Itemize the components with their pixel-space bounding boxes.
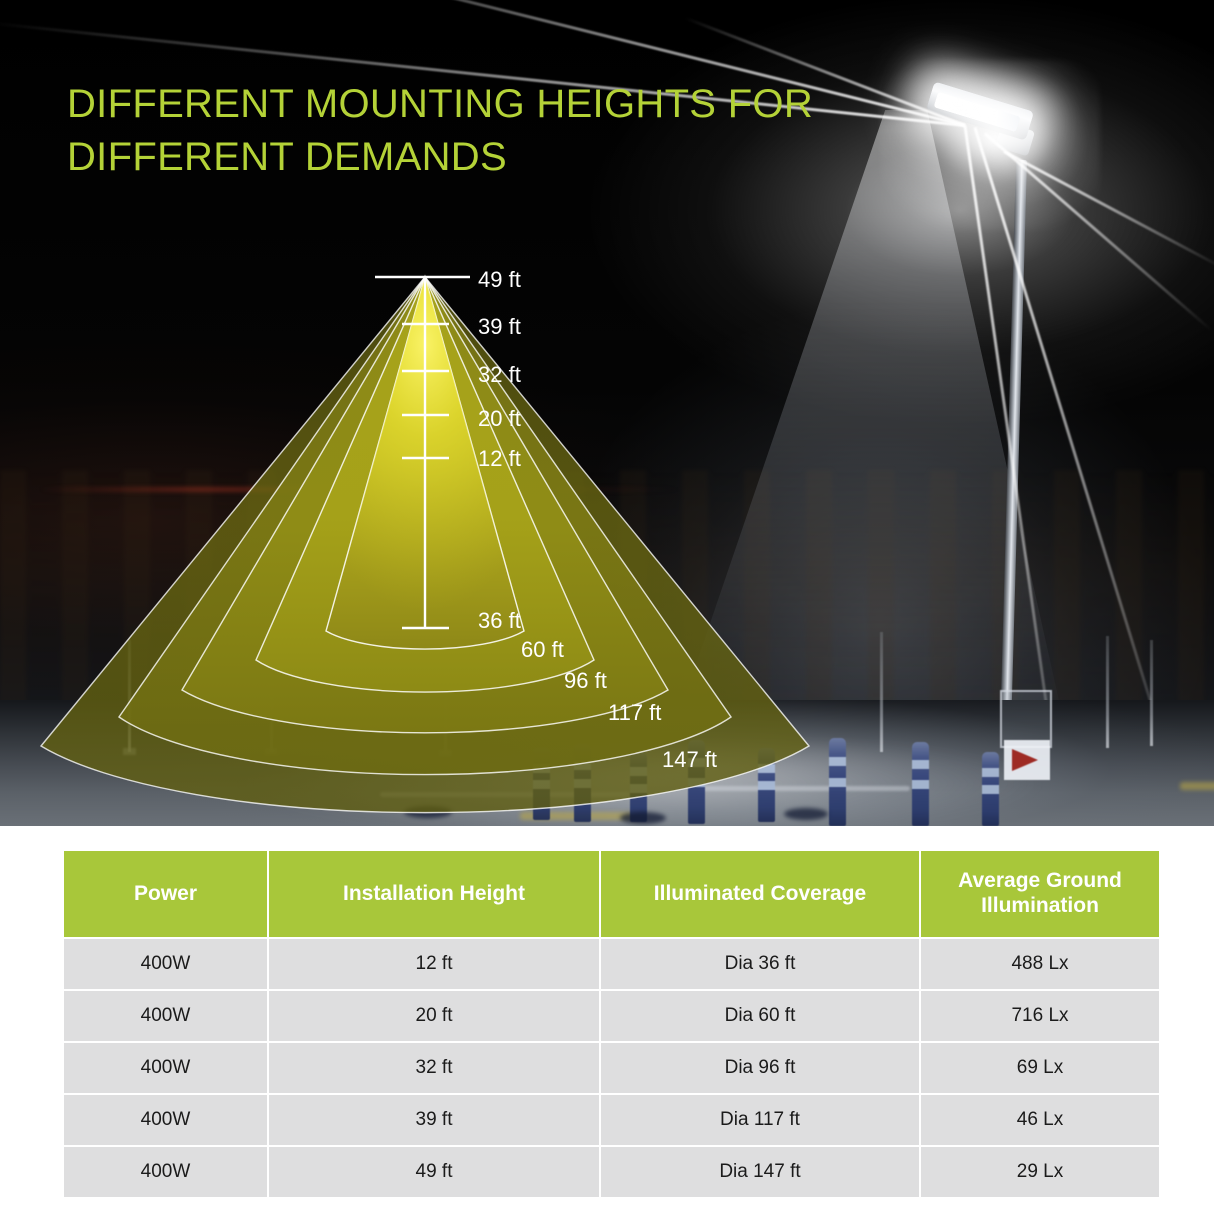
product-infographic-page: 49 ft 39 ft 32 ft 20 ft 12 ft 36 ft 60 f… bbox=[0, 0, 1214, 1214]
column-header-average-ground-illumination: Average Ground Illumination bbox=[921, 851, 1159, 937]
cell-height: 12 ft bbox=[269, 939, 599, 989]
cell-height: 20 ft bbox=[269, 991, 599, 1041]
diameter-label-96ft: 96 ft bbox=[564, 668, 607, 693]
cell-illumination: 716 Lx bbox=[921, 991, 1159, 1041]
diameter-label-36ft: 36 ft bbox=[478, 608, 521, 633]
spec-table-container: Power Installation Height Illuminated Co… bbox=[62, 849, 1153, 1199]
column-header-installation-height: Installation Height bbox=[269, 851, 599, 937]
height-label-12ft: 12 ft bbox=[478, 446, 521, 471]
table-row: 400W 32 ft Dia 96 ft 69 Lx bbox=[64, 1043, 1159, 1093]
diameter-label-60ft: 60 ft bbox=[521, 637, 564, 662]
spec-table-body: 400W 12 ft Dia 36 ft 488 Lx 400W 20 ft D… bbox=[64, 939, 1159, 1197]
table-row: 400W 12 ft Dia 36 ft 488 Lx bbox=[64, 939, 1159, 989]
cell-coverage: Dia 147 ft bbox=[601, 1147, 919, 1197]
table-row: 400W 39 ft Dia 117 ft 46 Lx bbox=[64, 1095, 1159, 1145]
height-label-49ft: 49 ft bbox=[478, 267, 521, 292]
spec-table-head: Power Installation Height Illuminated Co… bbox=[64, 851, 1159, 937]
cell-power: 400W bbox=[64, 1043, 267, 1093]
page-title: DIFFERENT MOUNTING HEIGHTS FOR DIFFERENT… bbox=[67, 78, 887, 184]
cell-coverage: Dia 96 ft bbox=[601, 1043, 919, 1093]
cell-illumination: 29 Lx bbox=[921, 1147, 1159, 1197]
cell-power: 400W bbox=[64, 1147, 267, 1197]
cell-height: 49 ft bbox=[269, 1147, 599, 1197]
cell-coverage: Dia 60 ft bbox=[601, 991, 919, 1041]
page-title-line-1: DIFFERENT MOUNTING HEIGHTS FOR bbox=[67, 78, 887, 131]
cell-power: 400W bbox=[64, 1095, 267, 1145]
cell-power: 400W bbox=[64, 939, 267, 989]
spec-table: Power Installation Height Illuminated Co… bbox=[62, 849, 1161, 1199]
column-header-power: Power bbox=[64, 851, 267, 937]
cell-height: 32 ft bbox=[269, 1043, 599, 1093]
height-label-20ft: 20 ft bbox=[478, 406, 521, 431]
diameter-label-117ft: 117 ft bbox=[608, 700, 661, 725]
height-label-39ft: 39 ft bbox=[478, 314, 521, 339]
cell-illumination: 69 Lx bbox=[921, 1043, 1159, 1093]
cell-illumination: 488 Lx bbox=[921, 939, 1159, 989]
cell-power: 400W bbox=[64, 991, 267, 1041]
page-title-line-2: DIFFERENT DEMANDS bbox=[67, 131, 887, 184]
hero-night-photo: 49 ft 39 ft 32 ft 20 ft 12 ft 36 ft 60 f… bbox=[0, 0, 1214, 826]
table-row: 400W 20 ft Dia 60 ft 716 Lx bbox=[64, 991, 1159, 1041]
table-row: 400W 49 ft Dia 147 ft 29 Lx bbox=[64, 1147, 1159, 1197]
table-header-row: Power Installation Height Illuminated Co… bbox=[64, 851, 1159, 937]
diameter-label-147ft: 147 ft bbox=[662, 747, 717, 772]
height-label-32ft: 32 ft bbox=[478, 362, 521, 387]
cell-height: 39 ft bbox=[269, 1095, 599, 1145]
cell-illumination: 46 Lx bbox=[921, 1095, 1159, 1145]
cell-coverage: Dia 117 ft bbox=[601, 1095, 919, 1145]
column-header-illuminated-coverage: Illuminated Coverage bbox=[601, 851, 919, 937]
cell-coverage: Dia 36 ft bbox=[601, 939, 919, 989]
